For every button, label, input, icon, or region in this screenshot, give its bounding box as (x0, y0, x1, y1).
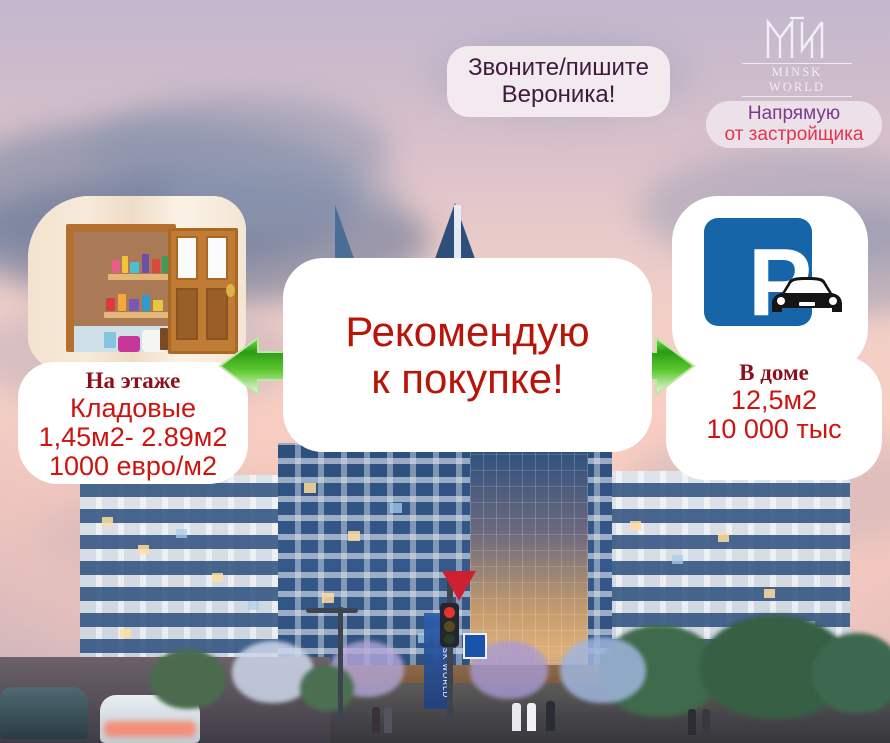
parking-card-text[interactable]: В доме 12,5м2 10 000 тыс (666, 356, 882, 480)
pedestrian (546, 701, 555, 731)
shelf (104, 312, 170, 318)
tree (812, 633, 890, 713)
storage-room-interior (74, 232, 168, 352)
pedestrian (688, 709, 696, 735)
storage-card-text[interactable]: На этаже Кладовые 1,45м2- 2.89м2 1000 ев… (18, 362, 248, 484)
tree-blossom (560, 637, 646, 703)
shelf (108, 274, 170, 280)
parking-heading: В доме (666, 360, 882, 386)
recommendation-line-2: к покупке! (345, 355, 589, 402)
recommendation-line-1: Рекомендую (345, 308, 589, 355)
pedestrian (512, 703, 521, 731)
parking-card-image[interactable]: P (672, 196, 868, 374)
badge-line-1: Напрямую (748, 104, 840, 125)
contact-line-1: Звоните/пишите (468, 55, 649, 82)
recommendation-text: Рекомендую к покупке! (345, 308, 589, 402)
storage-heading: На этаже (18, 368, 248, 394)
door-glass-pane (176, 236, 198, 280)
contact-callout-bubble[interactable]: Звоните/пишите Вероника! (447, 46, 670, 117)
door-glass-pane (206, 236, 228, 280)
door-knob-icon (226, 284, 235, 297)
yield-sign (442, 571, 476, 601)
door-frame (66, 224, 176, 352)
street-lamp-pole (338, 607, 343, 725)
contact-line-2: Вероника! (468, 82, 649, 109)
parking-line-2: 10 000 тыс (666, 415, 882, 444)
pedestrian (384, 707, 392, 733)
storage-room-illustration (28, 196, 246, 370)
street-lamp-arm (306, 608, 358, 613)
pedestrian-crossing-sign (463, 633, 487, 659)
direct-from-developer-badge[interactable]: Напрямую от застройщика (706, 101, 882, 148)
brand-logo[interactable]: MINSK WORLD (742, 16, 852, 92)
contact-callout-text: Звоните/пишите Вероника! (468, 55, 649, 109)
door-wood-panel (176, 288, 198, 340)
car-icon (766, 274, 848, 320)
storage-line-2: 1,45м2- 2.89м2 (18, 423, 248, 452)
storage-line-1: Кладовые (18, 394, 248, 423)
tree (300, 665, 354, 711)
traffic-light-box (440, 603, 459, 647)
pedestrian (527, 703, 536, 731)
pedestrian (372, 707, 380, 733)
car-left (0, 687, 88, 739)
recommendation-card[interactable]: Рекомендую к покупке! (283, 258, 652, 452)
car-taillights (104, 721, 196, 737)
parking-line-1: 12,5м2 (666, 386, 882, 415)
badge-line-2: от застройщика (725, 125, 864, 146)
storage-line-3: 1000 евро/м2 (18, 452, 248, 481)
promo-image: MINSK WORLD Звоните/пишите Вероника! (0, 0, 890, 743)
mw-monogram-icon (760, 16, 834, 62)
tree (150, 649, 226, 709)
storage-card-image[interactable] (28, 196, 246, 370)
pedestrian (702, 709, 710, 735)
brand-wordmark: MINSK WORLD (742, 63, 852, 97)
